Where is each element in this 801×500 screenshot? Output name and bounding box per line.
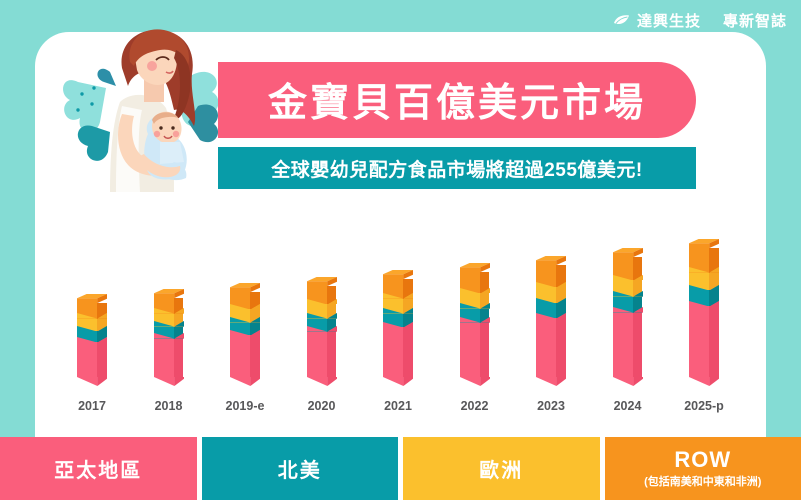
segment-side-face bbox=[174, 339, 184, 377]
segment-seam bbox=[689, 267, 719, 273]
segment-seam bbox=[460, 288, 490, 294]
legend-item-label: 歐洲 bbox=[479, 454, 523, 483]
segment-seam bbox=[383, 308, 413, 314]
x-axis-label-2020: 2020 bbox=[285, 399, 359, 413]
brand-name: 達興生技 bbox=[637, 10, 701, 31]
bar-segment-asia-pacific bbox=[154, 339, 184, 377]
title-banner: 金寶貝百億美元市場 bbox=[218, 62, 696, 138]
leaf-swoosh-icon bbox=[613, 14, 630, 27]
segment-seam bbox=[613, 275, 643, 281]
bar-bottom-foot bbox=[77, 377, 107, 386]
bar-segment-asia-pacific bbox=[307, 332, 337, 377]
segment-front-face bbox=[77, 342, 97, 377]
x-axis-label-2019-e: 2019-e bbox=[208, 399, 282, 413]
bar-top-cap bbox=[383, 270, 413, 279]
segment-seam bbox=[689, 285, 719, 291]
segment-side-face bbox=[709, 306, 719, 377]
bar-top-cap bbox=[689, 239, 719, 248]
segment-front-face bbox=[383, 327, 403, 377]
segment-side-face bbox=[633, 313, 643, 377]
bar-segment-asia-pacific bbox=[230, 335, 260, 377]
segment-front-face bbox=[307, 332, 327, 377]
segment-seam bbox=[689, 301, 719, 307]
segment-front-face bbox=[689, 306, 709, 377]
bar-group bbox=[77, 303, 107, 377]
segment-seam bbox=[613, 291, 643, 297]
legend-item-europe[interactable]: 歐洲 bbox=[403, 437, 605, 500]
x-axis-label-2023: 2023 bbox=[514, 399, 588, 413]
stacked-bar[interactable] bbox=[460, 272, 490, 377]
bar-bottom-foot bbox=[230, 377, 260, 386]
x-axis-label-2017: 2017 bbox=[55, 399, 129, 413]
segment-side-face bbox=[403, 327, 413, 377]
segment-seam bbox=[613, 307, 643, 313]
bar-group bbox=[383, 279, 413, 377]
infographic-root: 達興生技 專新智誌 bbox=[0, 0, 801, 500]
segment-seam bbox=[536, 298, 566, 304]
stacked-bar[interactable] bbox=[613, 257, 643, 377]
segment-front-face bbox=[154, 339, 174, 377]
legend-item-label: 北美 bbox=[278, 454, 322, 483]
bar-bottom-foot bbox=[154, 377, 184, 386]
bar-bottom-foot bbox=[689, 377, 719, 386]
stacked-bar[interactable] bbox=[536, 265, 566, 377]
legend-item-asia-pacific[interactable]: 亞太地區 bbox=[0, 437, 202, 500]
segment-side-face bbox=[480, 323, 490, 377]
stacked-bar[interactable] bbox=[230, 292, 260, 377]
bar-bottom-foot bbox=[383, 377, 413, 386]
bar-bottom-foot bbox=[460, 377, 490, 386]
brand-tagline: 專新智誌 bbox=[723, 10, 787, 31]
legend-item-row[interactable]: ROW(包括南美和中東和非洲) bbox=[605, 437, 801, 500]
x-axis-label-2025-p: 2025-p bbox=[667, 399, 741, 413]
segment-front-face bbox=[230, 335, 250, 377]
bar-group bbox=[460, 272, 490, 377]
subtitle-banner: 全球嬰幼兒配方食品市場將超過255億美元! bbox=[218, 147, 696, 189]
brand-header: 達興生技 專新智誌 bbox=[613, 10, 787, 31]
bar-bottom-foot bbox=[613, 377, 643, 386]
bar-top-cap bbox=[154, 289, 184, 298]
stacked-bar[interactable] bbox=[689, 248, 719, 377]
bar-top-cap bbox=[77, 294, 107, 303]
bar-group bbox=[154, 298, 184, 377]
page-subtitle: 全球嬰幼兒配方食品市場將超過255億美元! bbox=[271, 155, 643, 182]
stacked-bar[interactable] bbox=[154, 298, 184, 377]
bar-top-cap bbox=[230, 283, 260, 292]
bar-group bbox=[689, 248, 719, 377]
bar-top-cap bbox=[536, 256, 566, 265]
x-axis-label-2021: 2021 bbox=[361, 399, 435, 413]
segment-side-face bbox=[327, 332, 337, 377]
segment-seam bbox=[307, 299, 337, 305]
bar-group bbox=[613, 257, 643, 377]
segment-seam bbox=[77, 313, 107, 319]
segment-seam bbox=[307, 313, 337, 319]
bar-group bbox=[307, 286, 337, 377]
bar-top-cap bbox=[613, 248, 643, 257]
segment-seam bbox=[230, 330, 260, 336]
chart-legend: 亞太地區北美歐洲ROW(包括南美和中東和非洲) bbox=[0, 437, 801, 500]
stacked-bar[interactable] bbox=[77, 303, 107, 377]
segment-seam bbox=[460, 317, 490, 323]
bar-segment-asia-pacific bbox=[613, 313, 643, 377]
segment-seam bbox=[154, 321, 184, 327]
segment-seam bbox=[77, 337, 107, 343]
segment-seam bbox=[536, 313, 566, 319]
segment-seam bbox=[460, 303, 490, 309]
bar-segment-asia-pacific bbox=[689, 306, 719, 377]
page-title: 金寶貝百億美元市場 bbox=[268, 72, 646, 128]
segment-seam bbox=[230, 304, 260, 310]
x-axis-label-2018: 2018 bbox=[132, 399, 206, 413]
bar-top-cap bbox=[460, 263, 490, 272]
bar-segment-asia-pacific bbox=[536, 318, 566, 377]
legend-item-label: 亞太地區 bbox=[54, 454, 142, 483]
bar-bottom-foot bbox=[307, 377, 337, 386]
segment-seam bbox=[383, 322, 413, 328]
bar-group bbox=[230, 292, 260, 377]
segment-front-face bbox=[460, 323, 480, 377]
legend-item-sublabel: (包括南美和中東和非洲) bbox=[644, 473, 761, 489]
bar-group bbox=[536, 265, 566, 377]
segment-front-face bbox=[536, 318, 556, 377]
legend-item-north-america[interactable]: 北美 bbox=[202, 437, 404, 500]
segment-seam bbox=[536, 282, 566, 288]
bar-bottom-foot bbox=[536, 377, 566, 386]
segment-side-face bbox=[556, 318, 566, 377]
bar-segment-asia-pacific bbox=[460, 323, 490, 377]
segment-seam bbox=[154, 308, 184, 314]
segment-seam bbox=[383, 293, 413, 299]
segment-front-face bbox=[613, 313, 633, 377]
x-axis-label-2022: 2022 bbox=[438, 399, 512, 413]
stacked-bar[interactable] bbox=[307, 286, 337, 377]
legend-item-label: ROW bbox=[674, 448, 731, 471]
segment-seam bbox=[154, 333, 184, 339]
segment-side-face bbox=[250, 335, 260, 377]
segment-seam bbox=[230, 317, 260, 323]
segment-seam bbox=[77, 326, 107, 332]
bar-segment-asia-pacific bbox=[77, 342, 107, 377]
segment-seam bbox=[307, 326, 337, 332]
bar-top-cap bbox=[307, 277, 337, 286]
segment-side-face bbox=[97, 342, 107, 377]
bar-segment-asia-pacific bbox=[383, 327, 413, 377]
x-axis-label-2024: 2024 bbox=[591, 399, 665, 413]
stacked-bar[interactable] bbox=[383, 279, 413, 377]
